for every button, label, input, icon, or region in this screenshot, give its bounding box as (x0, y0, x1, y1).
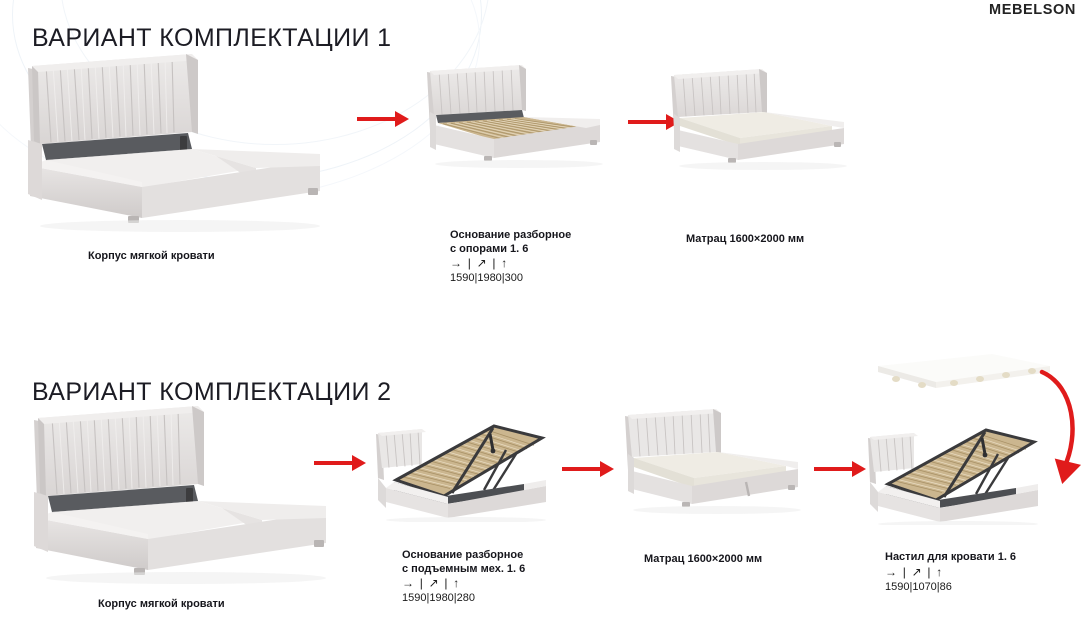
arrow-head (852, 461, 866, 477)
arrow-head (395, 111, 409, 127)
base-with-lift-mechanism-illustration (374, 392, 554, 522)
dimension-arrows-icon: → | ↗ | ↑ (885, 565, 1016, 580)
caption-body-1: Корпус мягкой кровати (88, 250, 215, 264)
bed-body-illustration-2 (26, 400, 346, 585)
curved-red-arrow (1020, 368, 1088, 498)
dimension-arrows-icon: → | ↗ | ↑ (450, 256, 571, 271)
caption-line-1: Основание разборное (402, 549, 525, 563)
caption-line-2: с опорами 1. 6 (450, 243, 571, 257)
arrow-shaft (814, 467, 853, 471)
flow-arrow-1 (357, 111, 409, 127)
dimension-arrows-icon: → | ↗ | ↑ (402, 576, 525, 591)
caption-base-lift: Основание разборное с подъемным мех. 1. … (402, 549, 525, 605)
flow-arrow-3 (314, 455, 366, 471)
caption-body-2: Корпус мягкой кровати (98, 598, 225, 612)
assembly-diagram-page: MEBELSON ВАРИАНТ КОМПЛЕКТАЦИИ 1 (0, 0, 1088, 632)
bed-body-illustration-1 (20, 48, 340, 233)
arrow-head (352, 455, 366, 471)
caption-text: Матрац 1600×2000 мм (644, 553, 762, 567)
caption-text: Матрац 1600×2000 мм (686, 233, 804, 247)
base-with-legs-illustration (424, 62, 614, 170)
caption-line-1: Основание разборное (450, 229, 571, 243)
bed-with-mattress-illustration-2 (622, 404, 812, 519)
dimension-values: 1590|1070|86 (885, 580, 1016, 594)
arrow-shaft (628, 120, 667, 124)
flow-arrow-4 (562, 461, 614, 477)
base-with-lift-mechanism-illustration-2 (866, 400, 1046, 525)
caption-line-2: с подъемным мех. 1. 6 (402, 563, 525, 577)
caption-base-legs: Основание разборное с опорами 1. 6 → | ↗… (450, 229, 571, 285)
caption-text: Корпус мягкой кровати (88, 250, 215, 264)
caption-deck: Настил для кровати 1. 6 → | ↗ | ↑ 1590|1… (885, 551, 1016, 594)
bed-with-mattress-illustration-1 (668, 64, 858, 172)
dimension-values: 1590|1980|300 (450, 271, 571, 285)
caption-text: Корпус мягкой кровати (98, 598, 225, 612)
caption-mattress-2: Матрац 1600×2000 мм (644, 553, 762, 567)
arrow-head (600, 461, 614, 477)
flow-arrow-5 (814, 461, 866, 477)
brand-logo: MEBELSON (989, 2, 1076, 18)
caption-text: Настил для кровати 1. 6 (885, 551, 1016, 565)
arrow-shaft (562, 467, 601, 471)
arrow-shaft (314, 461, 353, 465)
dimension-values: 1590|1980|280 (402, 591, 525, 605)
arrow-shaft (357, 117, 396, 121)
caption-mattress-1: Матрац 1600×2000 мм (686, 233, 804, 247)
